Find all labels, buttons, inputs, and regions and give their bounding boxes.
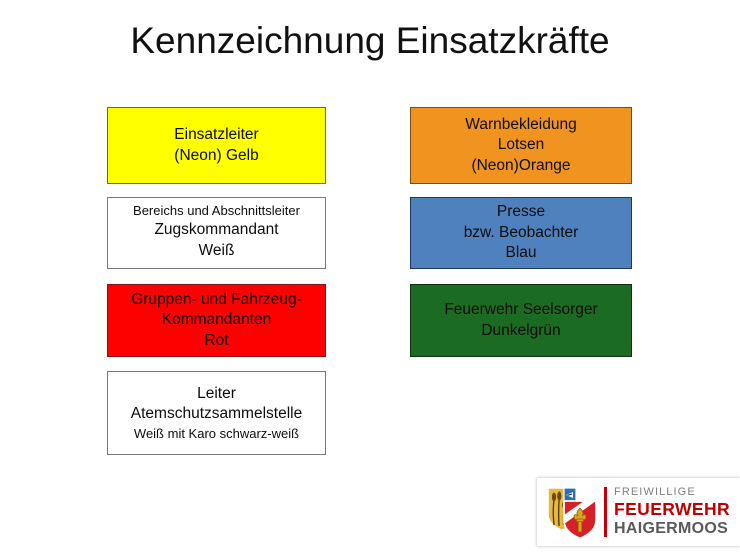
- badge-box-warnbekleidung: Warnbekleidung Lotsen (Neon)Orange: [410, 107, 632, 184]
- logo-line-haigermoos: HAIGERMOOS: [614, 519, 738, 538]
- logo-wordmark: FREIWILLIGE FEUERWEHR HAIGERMOOS: [614, 486, 740, 538]
- badge-line-role-part2: Atemschutzsammelstelle: [131, 404, 302, 425]
- badge-line-subrole: Bereichs und Abschnittsleiter: [133, 202, 300, 219]
- badge-line-color: Rot: [204, 331, 228, 352]
- badge-line-color: Weiß: [199, 241, 235, 262]
- badge-line-role-part1: Gruppen- und Fahrzeug-: [131, 290, 302, 311]
- badge-box-seelsorger: Feuerwehr Seelsorger Dunkelgrün: [410, 284, 632, 357]
- badge-line-role-part2: bzw. Beobachter: [464, 223, 579, 244]
- badge-box-einsatzleiter: Einsatzleiter (Neon) Gelb: [107, 107, 326, 184]
- badge-line-color: (Neon) Gelb: [174, 146, 258, 167]
- badge-box-kommandanten: Gruppen- und Fahrzeug- Kommandanten Rot: [107, 284, 326, 357]
- badge-line-color: Dunkelgrün: [481, 321, 560, 342]
- badge-line-role-part1: Presse: [497, 202, 545, 223]
- fire-brigade-logo: FREIWILLIGE FEUERWEHR HAIGERMOOS: [537, 478, 740, 546]
- logo-divider: [604, 487, 607, 537]
- badge-line-role-part1: Leiter: [197, 384, 236, 405]
- badge-line-role-part2: Lotsen: [498, 135, 545, 156]
- badge-line-color: Weiß mit Karo schwarz-weiß: [134, 425, 299, 442]
- badge-line-color: (Neon)Orange: [471, 156, 570, 177]
- badge-color-legend-board: Einsatzleiter (Neon) Gelb Bereichs und A…: [0, 0, 740, 555]
- logo-line-freiwillige: FREIWILLIGE: [614, 486, 738, 499]
- badge-line-role: Einsatzleiter: [174, 125, 258, 146]
- badge-line-role: Feuerwehr Seelsorger: [444, 300, 597, 321]
- fire-brigade-coat-of-arms-icon: [543, 483, 601, 541]
- logo-line-feuerwehr: FEUERWEHR: [614, 499, 738, 519]
- badge-box-atemschutz: Leiter Atemschutzsammelstelle Weiß mit K…: [107, 371, 326, 455]
- badge-line-role-part2: Kommandanten: [162, 310, 271, 331]
- badge-box-zugskommandant: Bereichs und Abschnittsleiter Zugskomman…: [107, 197, 326, 269]
- badge-line-color: Blau: [505, 243, 536, 264]
- badge-line-role-part1: Warnbekleidung: [465, 115, 576, 136]
- badge-box-presse: Presse bzw. Beobachter Blau: [410, 197, 632, 269]
- badge-line-role: Zugskommandant: [154, 220, 278, 241]
